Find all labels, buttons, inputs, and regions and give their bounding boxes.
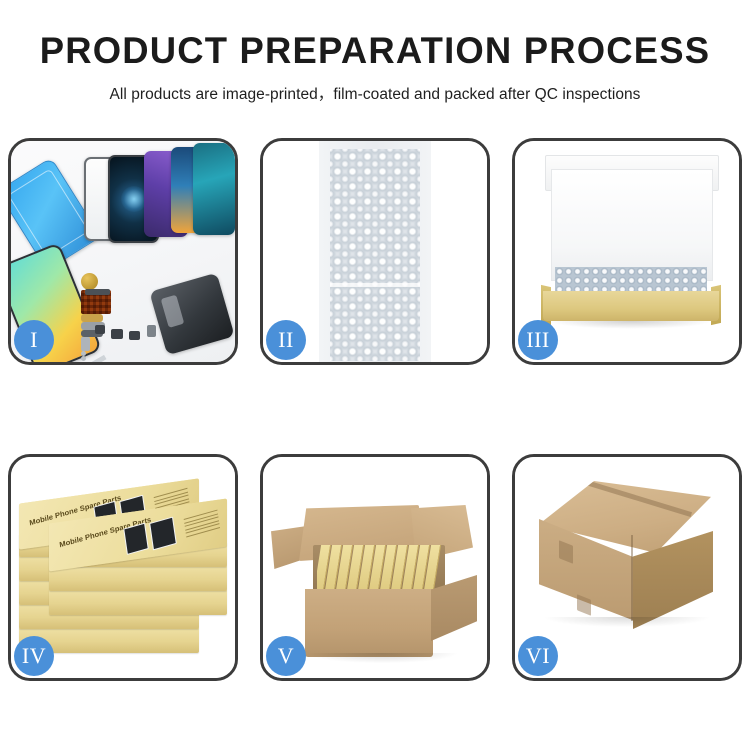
- phone-display-teal: [193, 143, 235, 235]
- step-badge-2: II: [266, 320, 306, 360]
- inner-box-white-wall: [551, 169, 713, 281]
- bubble-wrap-sheet: [319, 141, 431, 362]
- inner-box-shadow: [549, 321, 713, 329]
- retail-box-stack: Mobile Phone Spare Parts Mobile Phone Sp…: [17, 477, 229, 667]
- step-badge-1: I: [14, 320, 54, 360]
- inner-box-bubble-fill: [555, 267, 707, 293]
- camera-module-part: [81, 337, 90, 351]
- inner-box-front-panel: [543, 291, 719, 321]
- retail-box-right-slab-4: [49, 589, 227, 615]
- step-panel-5: V: [260, 454, 490, 681]
- chip-part-4: [147, 325, 156, 337]
- sealed-carton-shadow: [545, 617, 709, 627]
- step-badge-5: V: [266, 636, 306, 676]
- page-title: PRODUCT PREPARATION PROCESS: [6, 30, 745, 73]
- retail-box-right-slab-3: [49, 565, 227, 591]
- step-panel-3: III: [512, 138, 742, 365]
- page-header: PRODUCT PREPARATION PROCESS All products…: [0, 0, 750, 104]
- step-panel-6: VI: [512, 454, 742, 681]
- step-badge-3: III: [518, 320, 558, 360]
- chip-part-3: [129, 331, 140, 340]
- step-badge-4: IV: [14, 636, 54, 676]
- bubble-wrap-bubbles: [330, 149, 420, 361]
- screw-part-2: [81, 356, 86, 361]
- step-panel-1: I: [8, 138, 238, 365]
- process-steps-grid: I II III: [8, 138, 742, 681]
- page-subtitle: All products are image-printed，film-coat…: [0, 82, 750, 104]
- carton-shadow: [307, 653, 457, 663]
- bubble-wrap-seam: [330, 283, 420, 287]
- step-panel-2: II: [260, 138, 490, 365]
- step-badge-6: VI: [518, 636, 558, 676]
- chip-part-1: [95, 325, 105, 334]
- gold-flex-part: [81, 314, 103, 322]
- carton-front-panel: [305, 589, 433, 657]
- spare-parts-cluster: [81, 273, 191, 359]
- flex-cable-part: [85, 289, 110, 295]
- step-panel-4: Mobile Phone Spare Parts Mobile Phone Sp…: [8, 454, 238, 681]
- chip-part-2: [111, 329, 123, 339]
- speaker-part: [81, 273, 98, 290]
- sealed-carton-edge: [631, 535, 633, 621]
